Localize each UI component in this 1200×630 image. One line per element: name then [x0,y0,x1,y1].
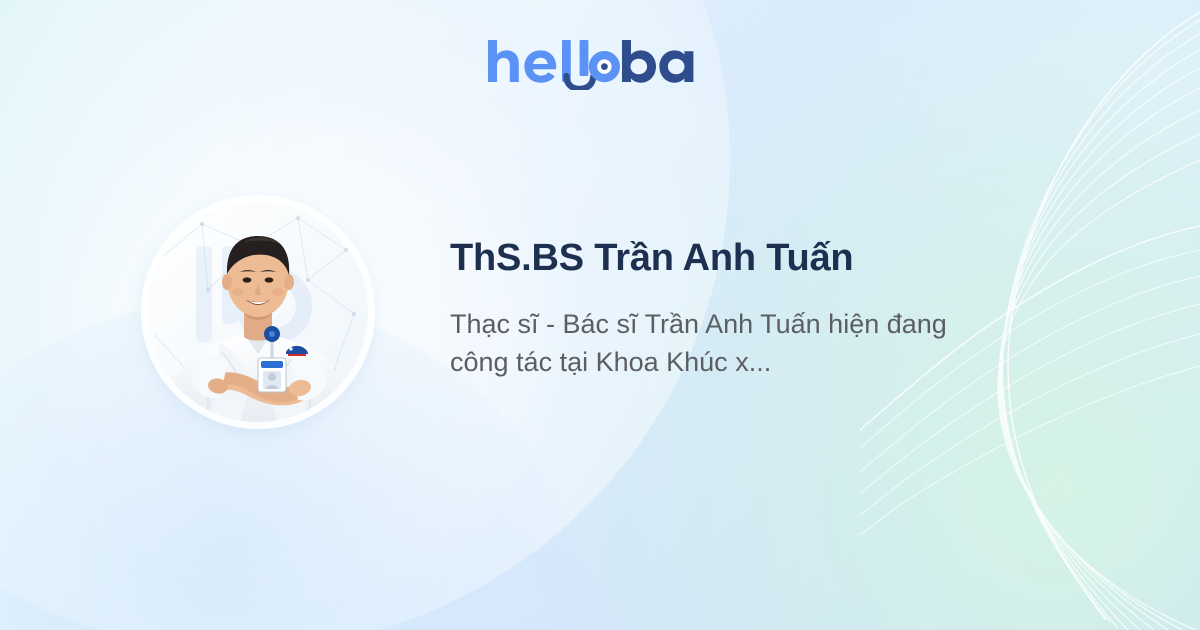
doctor-name: ThS.BS Trần Anh Tuấn [450,236,1010,281]
doctor-avatar [148,202,368,422]
hospital-logo-patch-icon [283,345,309,359]
card-body: ThS.BS Trần Anh Tuấn Thạc sĩ - Bác sĩ Tr… [0,0,1200,630]
doctor-photo [148,202,368,422]
doctor-info: ThS.BS Trần Anh Tuấn Thạc sĩ - Bác sĩ Tr… [450,236,1010,381]
share-card: ThS.BS Trần Anh Tuấn Thạc sĩ - Bác sĩ Tr… [0,0,1200,630]
doctor-description: Thạc sĩ - Bác sĩ Trần Anh Tuấn hiện đang… [450,305,980,382]
